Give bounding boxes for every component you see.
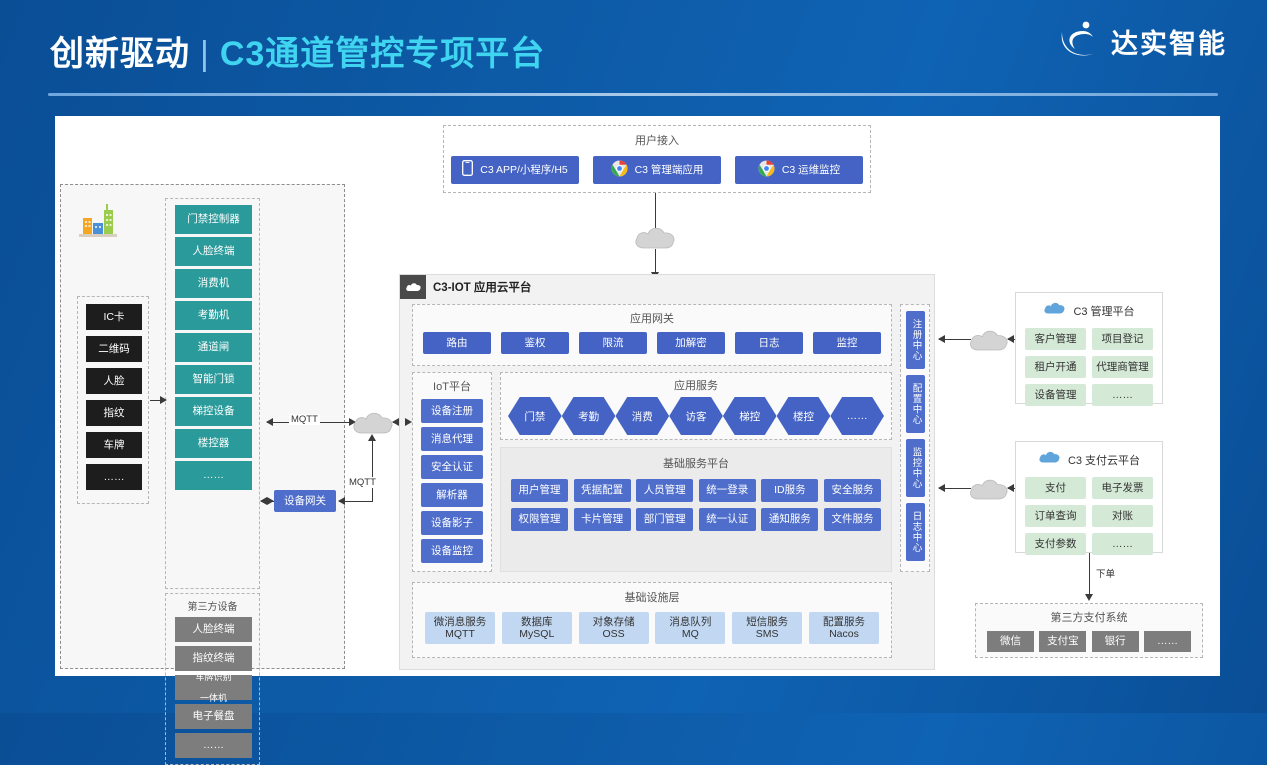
device-item[interactable]: 智能门锁 [175, 365, 252, 394]
base-service-item[interactable]: 卡片管理 [574, 508, 631, 531]
iot-platform-item[interactable]: 安全认证 [421, 455, 483, 479]
arrow-right-tp-gateway [267, 497, 274, 505]
infrastructure-panel: 基础设施层 微消息服务MQTT数据库MySQL对象存储OSS消息队列MQ短信服务… [412, 582, 892, 658]
third-party-device-item[interactable]: 电子餐盘 [175, 704, 252, 729]
app-service-hex[interactable]: 门禁 [508, 397, 562, 435]
infrastructure-title: 基础设施层 [413, 589, 891, 605]
center-item[interactable]: 配置中心 [906, 375, 925, 433]
device-item[interactable]: 门禁控制器 [175, 205, 252, 234]
chrome-browser-icon [758, 160, 775, 180]
credential-item[interactable]: 指纹 [86, 400, 142, 426]
link-label-mqtt-2: MQTT [347, 477, 378, 488]
header-divider [48, 93, 1218, 96]
cloud-icon [400, 275, 426, 299]
infrastructure-item[interactable]: 消息队列MQ [655, 612, 725, 644]
base-service-item[interactable]: 统一登录 [699, 479, 756, 502]
iot-platform-item[interactable]: 消息代理 [421, 427, 483, 451]
base-service-item[interactable]: 文件服务 [824, 508, 881, 531]
user-access-panel: 用户接入 C3 APP/小程序/H5 C3 管理端应用 C3 运维监控 [443, 125, 871, 193]
connector-cloud-platform [655, 249, 656, 274]
iot-platform-item[interactable]: 设备影子 [421, 511, 483, 535]
third-party-device-title: 第三方设备 [166, 598, 259, 613]
connector-pay-order [1089, 553, 1090, 597]
iot-platform-item[interactable]: 设备监控 [421, 539, 483, 563]
manage-platform-item[interactable]: 项目登记 [1092, 328, 1153, 350]
device-item[interactable]: 通道闸 [175, 333, 252, 362]
page-header: 创新驱动|C3通道管控专项平台 达实智能 [0, 0, 1267, 110]
pay-platform-item[interactable]: 支付 [1025, 477, 1086, 499]
page-title-right: C3通道管控专项平台 [220, 35, 545, 73]
credential-item[interactable]: …… [86, 464, 142, 490]
third-pay-panel: 第三方支付系统 微信支付宝银行…… [975, 603, 1203, 658]
credential-panel: IC卡二维码人脸指纹车牌…… [77, 296, 149, 504]
base-service-item[interactable]: 部门管理 [636, 508, 693, 531]
page-title: 创新驱动|C3通道管控专项平台 [50, 26, 545, 75]
device-item[interactable]: 考勤机 [175, 301, 252, 330]
iot-platform-title: IoT平台 [413, 378, 491, 394]
app-gateway-title: 应用网关 [413, 310, 891, 326]
app-services-panel: 应用服务 门禁考勤消费访客梯控楼控…… [500, 372, 892, 440]
arrow-left-manage [1007, 335, 1014, 343]
arrow-left-platform-manage [938, 335, 945, 343]
app-service-hex[interactable]: 访客 [669, 397, 723, 435]
arrow-up-gateway [368, 434, 376, 441]
device-item[interactable]: …… [175, 461, 252, 490]
arrow-right-into-iot [405, 418, 412, 426]
app-services-title: 应用服务 [501, 377, 891, 393]
third-pay-item[interactable]: …… [1144, 631, 1191, 652]
pay-platform-item[interactable]: 电子发票 [1092, 477, 1153, 499]
base-service-item[interactable]: 通知服务 [761, 508, 818, 531]
arrow-left-tp-gateway [260, 497, 267, 505]
connector-gateway-v [372, 438, 373, 502]
cloud-icon-pay [968, 475, 1010, 506]
app-service-hex[interactable]: 考勤 [562, 397, 616, 435]
chrome-browser-icon [611, 160, 628, 180]
infrastructure-item[interactable]: 数据库MySQL [502, 612, 572, 644]
manage-platform-panel: C3 管理平台 客户管理项目登记租户开通代理商管理设备管理…… [1015, 292, 1163, 404]
app-service-hex[interactable]: 楼控 [777, 397, 831, 435]
link-label-order: 下单 [1094, 566, 1117, 580]
user-access-item-label: C3 APP/小程序/H5 [480, 164, 568, 176]
infrastructure-item[interactable]: 短信服务SMS [732, 612, 802, 644]
user-access-item-app[interactable]: C3 APP/小程序/H5 [451, 156, 579, 184]
base-service-item[interactable]: ID服务 [761, 479, 818, 502]
center-item[interactable]: 注册中心 [906, 311, 925, 369]
base-services-title: 基础服务平台 [501, 455, 891, 471]
credential-item[interactable]: 车牌 [86, 432, 142, 458]
diagram-canvas: 用户接入 C3 APP/小程序/H5 C3 管理端应用 C3 运维监控 [55, 116, 1220, 676]
cloud-icon-manage [968, 326, 1010, 357]
app-gateway-item[interactable]: 加解密 [657, 332, 725, 354]
app-service-hex[interactable]: …… [830, 397, 884, 435]
manage-platform-item[interactable]: 代理商管理 [1092, 356, 1153, 378]
arrow-left-cloud-platform [392, 418, 399, 426]
credential-item[interactable]: 人脸 [86, 368, 142, 394]
device-item[interactable]: 消费机 [175, 269, 252, 298]
base-service-item[interactable]: 安全服务 [824, 479, 881, 502]
dashi-logo-icon [1055, 18, 1101, 64]
building-illustration-icon [77, 198, 119, 240]
pay-platform-panel: C3 支付云平台 支付电子发票订单查询对账支付参数…… [1015, 441, 1163, 553]
base-service-item[interactable]: 用户管理 [511, 479, 568, 502]
third-party-device-item[interactable]: …… [175, 733, 252, 758]
third-pay-item[interactable]: 支付宝 [1039, 631, 1086, 652]
pay-platform-item[interactable]: 支付参数 [1025, 533, 1086, 555]
link-label-mqtt-1: MQTT [289, 414, 320, 425]
pay-platform-title: C3 支付云平台 [1068, 452, 1140, 468]
device-item[interactable]: 楼控器 [175, 429, 252, 458]
third-party-device-item[interactable]: 车牌识别一体机 [175, 675, 252, 700]
user-access-item-ops[interactable]: C3 运维监控 [735, 156, 863, 184]
arrow-right-credential-device [160, 396, 167, 404]
device-panel: 门禁控制器人脸终端消费机考勤机通道闸智能门锁梯控设备楼控器…… [165, 198, 260, 589]
pay-platform-item[interactable]: 订单查询 [1025, 505, 1086, 527]
app-gateway-item[interactable]: 监控 [813, 332, 881, 354]
user-access-item-admin[interactable]: C3 管理端应用 [593, 156, 721, 184]
manage-platform-title: C3 管理平台 [1073, 303, 1134, 319]
infrastructure-item[interactable]: 微消息服务MQTT [425, 612, 495, 644]
cloud-platform-panel: C3-IOT 应用云平台 应用网关 路由鉴权限流加解密日志监控 IoT平台 设备… [399, 274, 935, 670]
app-gateway-item[interactable]: 鉴权 [501, 332, 569, 354]
arrow-left-platform-pay [938, 484, 945, 492]
third-party-device-panel: 第三方设备 人脸终端指纹终端车牌识别一体机电子餐盘…… [165, 593, 260, 765]
app-service-hex[interactable]: 消费 [615, 397, 669, 435]
brand-logo: 达实智能 [1055, 18, 1227, 64]
device-gateway-box[interactable]: 设备网关 [274, 490, 336, 512]
credential-item[interactable]: IC卡 [86, 304, 142, 330]
mobile-phone-icon [462, 160, 473, 179]
user-access-item-label: C3 管理端应用 [635, 164, 704, 176]
app-gateway-panel: 应用网关 路由鉴权限流加解密日志监控 [412, 304, 892, 366]
third-party-device-item[interactable]: 人脸终端 [175, 617, 252, 642]
arrow-down-order [1085, 594, 1093, 601]
third-pay-title: 第三方支付系统 [976, 609, 1202, 625]
user-access-item-label: C3 运维监控 [782, 164, 840, 176]
manage-platform-item[interactable]: 租户开通 [1025, 356, 1086, 378]
infrastructure-item[interactable]: 对象存储OSS [579, 612, 649, 644]
page-title-left: 创新驱动 [50, 35, 190, 73]
manage-platform-item[interactable]: 客户管理 [1025, 328, 1086, 350]
app-gateway-item[interactable]: 日志 [735, 332, 803, 354]
cloud-icon [1043, 301, 1066, 320]
manage-platform-item[interactable]: …… [1092, 384, 1153, 406]
third-pay-item[interactable]: 微信 [987, 631, 1034, 652]
center-item[interactable]: 日志中心 [906, 503, 925, 561]
iot-platform-panel: IoT平台 设备注册消息代理安全认证解析器设备影子设备监控 [412, 372, 492, 572]
base-service-item[interactable]: 权限管理 [511, 508, 568, 531]
app-service-hex[interactable]: 梯控 [723, 397, 777, 435]
infrastructure-item[interactable]: 配置服务Nacos [809, 612, 879, 644]
title-separator: | [200, 35, 210, 73]
arrow-left-mqtt1 [266, 418, 273, 426]
app-gateway-item[interactable]: 路由 [423, 332, 491, 354]
base-service-item[interactable]: 统一认证 [699, 508, 756, 531]
iot-platform-item[interactable]: 设备注册 [421, 399, 483, 423]
device-item[interactable]: 人脸终端 [175, 237, 252, 266]
manage-platform-item[interactable]: 设备管理 [1025, 384, 1086, 406]
center-item[interactable]: 监控中心 [906, 439, 925, 497]
iot-platform-item[interactable]: 解析器 [421, 483, 483, 507]
centers-panel: 注册中心配置中心监控中心日志中心 [900, 304, 930, 572]
pay-platform-item[interactable]: …… [1092, 533, 1153, 555]
third-party-device-item[interactable]: 指纹终端 [175, 646, 252, 671]
arrow-left-pay [1007, 484, 1014, 492]
arrow-left-gateway [338, 497, 345, 505]
pay-platform-item[interactable]: 对账 [1092, 505, 1153, 527]
base-services-panel: 基础服务平台 用户管理凭据配置人员管理统一登录ID服务安全服务 权限管理卡片管理… [500, 447, 892, 572]
credential-item[interactable]: 二维码 [86, 336, 142, 362]
cloud-platform-title: C3-IOT 应用云平台 [433, 279, 531, 295]
cloud-icon [1038, 450, 1061, 469]
device-item[interactable]: 梯控设备 [175, 397, 252, 426]
brand-name: 达实智能 [1111, 22, 1227, 61]
base-service-item[interactable]: 凭据配置 [574, 479, 631, 502]
user-access-title: 用户接入 [444, 132, 870, 148]
base-service-item[interactable]: 人员管理 [636, 479, 693, 502]
app-gateway-item[interactable]: 限流 [579, 332, 647, 354]
third-pay-item[interactable]: 银行 [1092, 631, 1139, 652]
